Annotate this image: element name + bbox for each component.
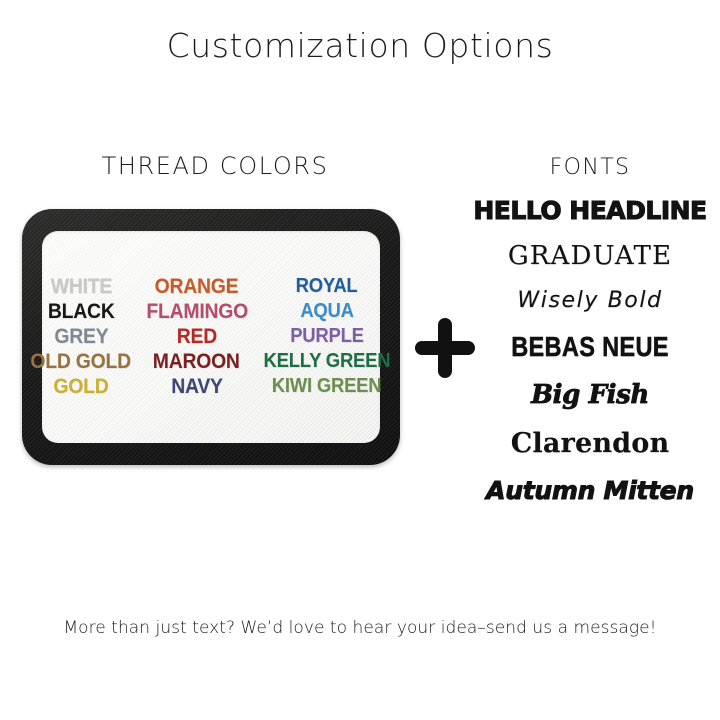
color-column: WHITEBLACKGREYOLD GOLDGOLD <box>26 274 135 399</box>
color-swatch-label: WHITE <box>50 274 111 299</box>
plus-icon-vertical-bar <box>438 318 452 378</box>
font-sample: Clarendon <box>468 428 712 459</box>
patch-face: WHITEBLACKGREYOLD GOLDGOLD ORANGEFLAMING… <box>42 231 380 443</box>
font-sample: Wisely Bold <box>468 288 712 313</box>
color-column: ORANGEFLAMINGOREDMAROONNAVY <box>142 274 252 399</box>
page-title: Customization Options <box>0 26 720 65</box>
color-swatch-label: NAVY <box>171 374 223 399</box>
color-swatch-columns: WHITEBLACKGREYOLD GOLDGOLD ORANGEFLAMING… <box>42 274 380 401</box>
font-sample: Bebas Neue <box>488 331 693 363</box>
font-sample: Hello Headline <box>468 196 712 225</box>
font-sample: Big Fish <box>468 380 712 410</box>
color-swatch-label: BLACK <box>48 299 115 324</box>
color-swatch-label: KIWI GREEN <box>272 374 382 399</box>
font-sample: Graduate <box>468 241 712 271</box>
color-swatch-label: GOLD <box>53 374 108 399</box>
thread-colors-heading: THREAD COLORS <box>20 152 410 180</box>
footer-note: More than just text? We’d love to hear y… <box>0 618 720 638</box>
thread-color-patch: WHITEBLACKGREYOLD GOLDGOLD ORANGEFLAMING… <box>22 209 400 465</box>
color-swatch-label: PURPLE <box>290 324 364 349</box>
color-swatch-label: OLD GOLD <box>31 349 131 374</box>
font-sample: Autumn Mitten <box>468 476 712 505</box>
color-swatch-label: GREY <box>54 324 108 349</box>
color-swatch-label: AQUA <box>300 299 353 324</box>
color-swatch-label: KELLY GREEN <box>263 349 390 374</box>
color-column: ROYALAQUAPURPLEKELLY GREENKIWI GREEN <box>258 274 396 399</box>
color-swatch-label: ROYAL <box>296 274 358 299</box>
font-sample-list: Hello HeadlineGraduateWisely BoldBebas N… <box>468 196 712 505</box>
color-swatch-label: RED <box>177 324 217 349</box>
color-swatch-label: MAROON <box>153 349 240 374</box>
color-swatch-label: FLAMINGO <box>146 299 248 324</box>
fonts-heading: FONTS <box>470 155 710 180</box>
color-swatch-label: ORANGE <box>155 274 239 299</box>
